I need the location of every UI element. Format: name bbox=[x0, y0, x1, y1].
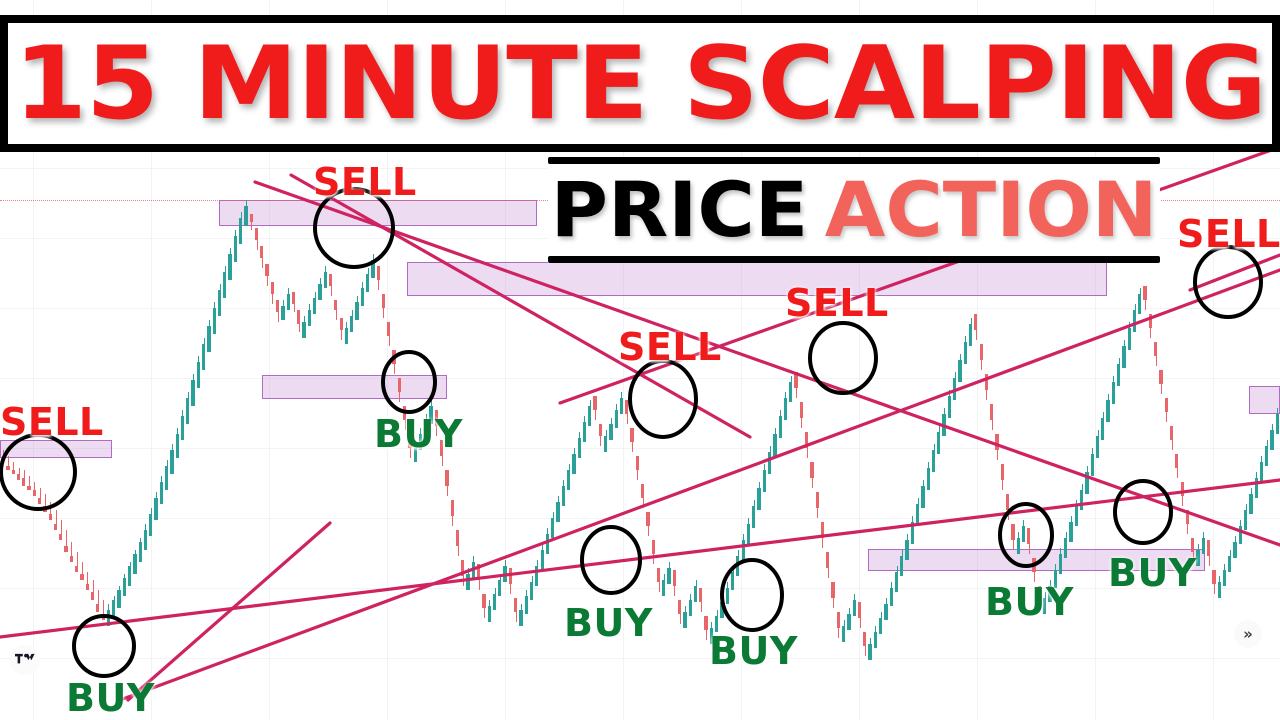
buy-signal-label: BUY bbox=[985, 580, 1074, 624]
scroll-to-realtime-button[interactable]: » bbox=[1234, 620, 1262, 648]
subtitle-word-price: PRICE bbox=[551, 172, 809, 248]
buy-signal-label: BUY bbox=[374, 412, 463, 456]
buy-signal-label: BUY bbox=[564, 601, 653, 645]
signal-circle bbox=[810, 323, 876, 393]
headline-text: 15 MINUTE SCALPING bbox=[14, 33, 1266, 134]
sell-signal-label: SELL bbox=[618, 325, 722, 369]
buy-signal-label: BUY bbox=[709, 629, 798, 673]
signal-circle bbox=[722, 560, 782, 630]
sell-signal-label: SELL bbox=[1177, 212, 1280, 256]
sell-signal-label: SELL bbox=[313, 160, 417, 204]
subtitle-word-action: ACTION bbox=[825, 172, 1158, 248]
signal-circle bbox=[1115, 481, 1171, 543]
buy-signal-label: BUY bbox=[1108, 551, 1197, 595]
signal-circle bbox=[1, 435, 75, 509]
sell-signal-label: SELL bbox=[0, 400, 104, 444]
tradingview-logo[interactable] bbox=[10, 645, 40, 675]
trendline bbox=[128, 523, 330, 700]
buy-signal-label: BUY bbox=[66, 676, 155, 720]
signal-circle bbox=[1000, 504, 1052, 566]
youtube-thumbnail: SELLSELLBUYBUYSELLSELLBUYBUYSELLBUYBUY »… bbox=[0, 0, 1280, 720]
sell-signal-label: SELL bbox=[785, 281, 889, 325]
subtitle-text: PRICE ACTION bbox=[539, 163, 1169, 257]
title-box: 15 MINUTE SCALPING bbox=[8, 23, 1272, 144]
title-bar: 15 MINUTE SCALPING bbox=[0, 15, 1280, 152]
tradingview-glyph bbox=[15, 653, 35, 667]
signal-circle bbox=[383, 352, 435, 412]
subtitle-banner: PRICE ACTION bbox=[548, 157, 1160, 263]
banner-rule-bottom bbox=[548, 256, 1160, 263]
